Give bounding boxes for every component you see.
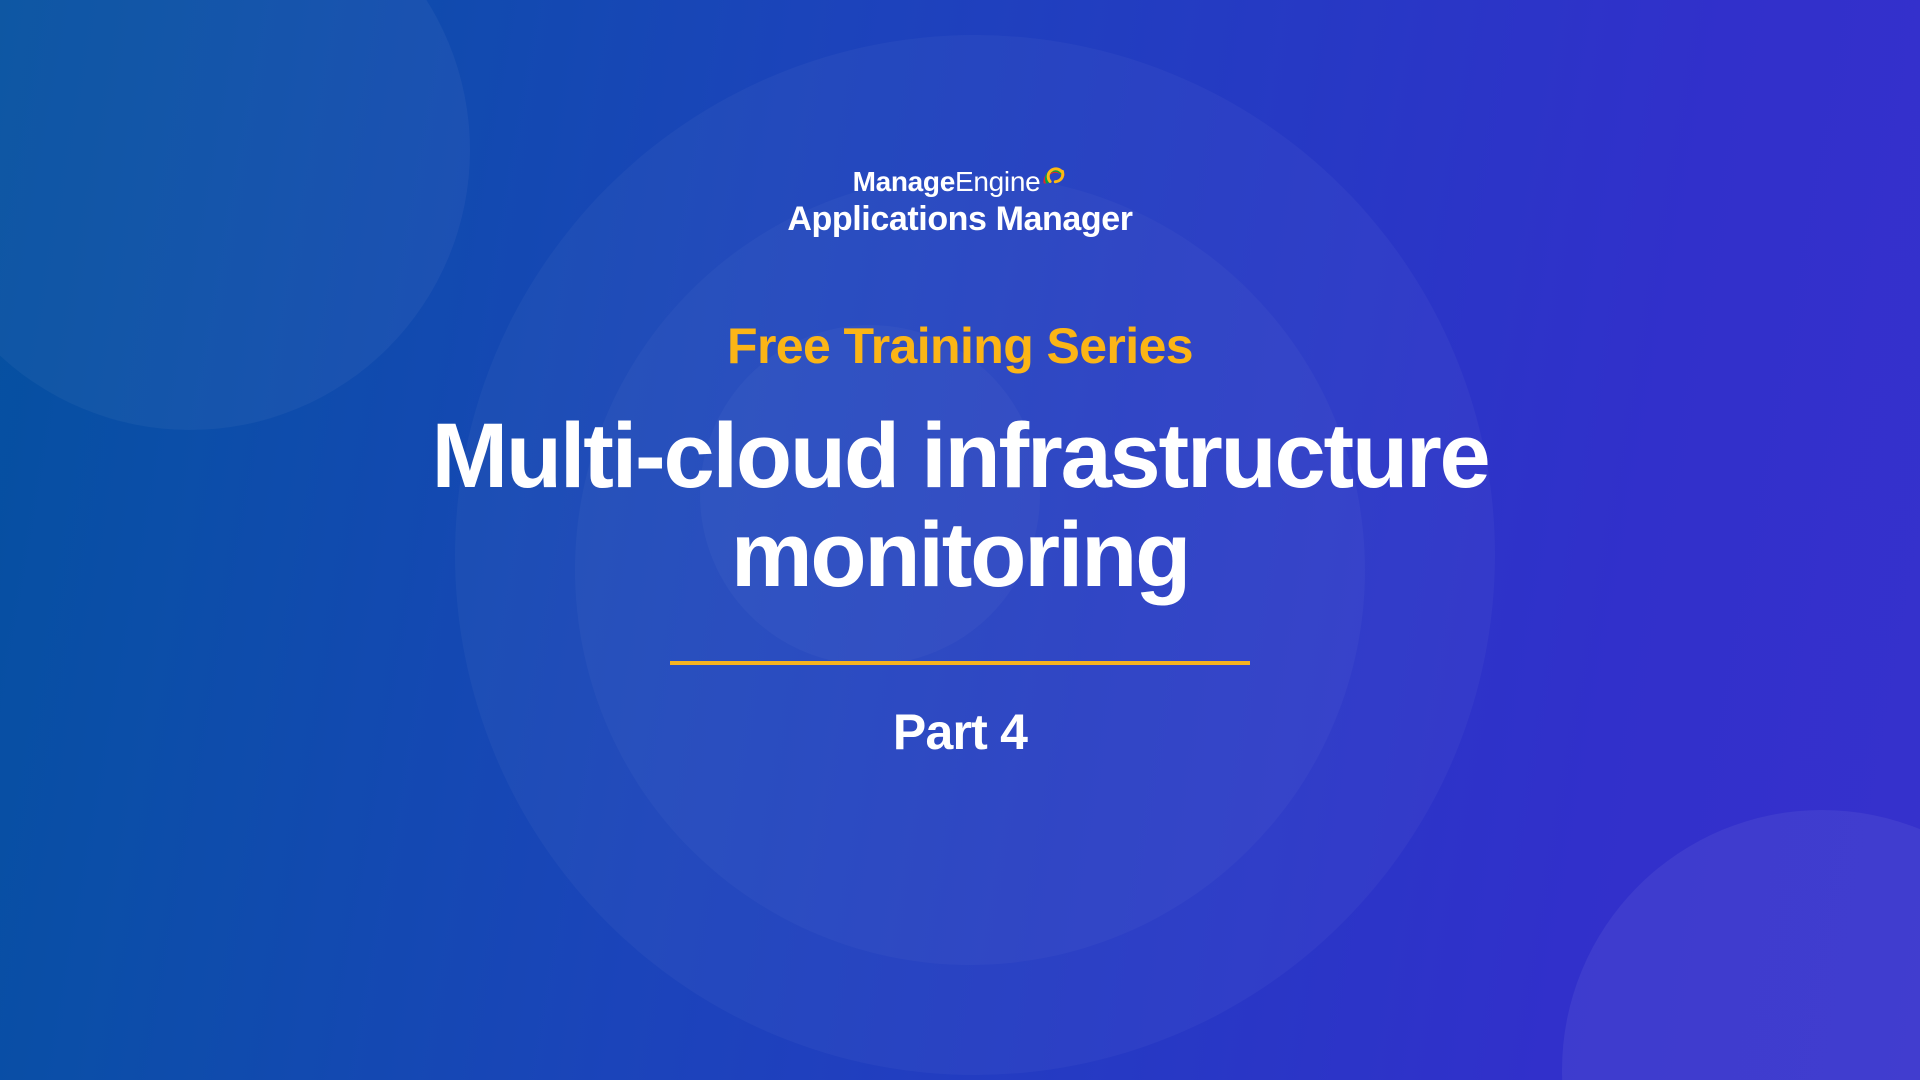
product-name: Applications Manager	[787, 202, 1132, 236]
presentation-slide: Manage Engine Applications Manager Free …	[0, 0, 1920, 1080]
slide-title-line-2: monitoring	[431, 506, 1488, 605]
slide-part-label: Part 4	[893, 703, 1027, 761]
slide-title: Multi-cloud infrastructure monitoring	[431, 407, 1488, 606]
manageengine-logo: Manage Engine Applications Manager	[787, 168, 1132, 236]
slide-eyebrow: Free Training Series	[727, 320, 1193, 373]
slide-title-line-1: Multi-cloud infrastructure	[431, 407, 1488, 506]
brand-name-engine: Engine	[955, 168, 1040, 196]
slide-content: Manage Engine Applications Manager Free …	[0, 0, 1920, 1080]
manageengine-swirl-icon	[1041, 160, 1067, 186]
manageengine-wordmark: Manage Engine	[853, 168, 1068, 196]
title-divider	[670, 661, 1250, 665]
brand-name-manage: Manage	[853, 168, 955, 196]
